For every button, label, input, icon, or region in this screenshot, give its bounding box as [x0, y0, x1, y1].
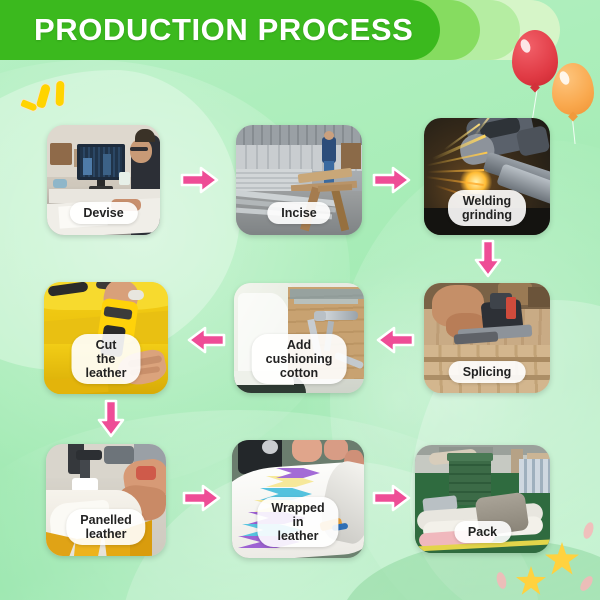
page-title: PRODUCTION PROCESS — [34, 11, 413, 49]
step-card-welding-grinding[interactable]: Welding grinding — [424, 118, 550, 235]
arrow-splicing-to-cushioning — [375, 325, 415, 355]
arrow-incise-to-welding — [372, 165, 412, 195]
arrow-cut-leather-to-panelled — [96, 399, 126, 439]
step-label-panelled-leather: Panelled leather — [66, 509, 145, 545]
step-label-add-cushioning-cotton: Add cushioning cotton — [252, 334, 347, 384]
step-label-pack: Pack — [454, 521, 511, 543]
step-card-cut-the-leather[interactable]: Cut the leather — [44, 282, 168, 394]
step-label-incise: Incise — [267, 202, 330, 224]
step-card-splicing[interactable]: Splicing — [424, 283, 550, 393]
balloon-orange-icon — [552, 63, 594, 115]
balloon-red-icon — [512, 30, 558, 86]
arrow-cushioning-to-cut-leather — [186, 325, 226, 355]
step-card-incise[interactable]: Incise — [236, 125, 362, 235]
step-label-welding-grinding: Welding grinding — [448, 190, 526, 226]
step-label-wrapped-in-leather: Wrapped in leather — [257, 497, 338, 547]
step-card-devise[interactable]: Devise — [47, 125, 160, 235]
step-label-cut-the-leather: Cut the leather — [72, 334, 141, 384]
arrow-panelled-to-wrapped — [182, 483, 222, 513]
step-label-devise: Devise — [69, 202, 137, 224]
arrow-devise-to-incise — [180, 165, 220, 195]
step-card-panelled-leather[interactable]: Panelled leather — [46, 444, 166, 556]
step-label-splicing: Splicing — [449, 361, 526, 383]
step-card-wrapped-in-leather[interactable]: Wrapped in leather — [232, 440, 364, 558]
burst-icon — [55, 80, 66, 107]
step-card-add-cushioning-cotton[interactable]: Add cushioning cotton — [234, 283, 364, 393]
arrow-wrapped-to-pack — [372, 483, 412, 513]
production-process-poster: PRODUCTION PROCESS — [0, 0, 600, 600]
step-card-pack[interactable]: Pack — [415, 445, 550, 553]
balloon-highlight — [519, 38, 533, 54]
arrow-welding-to-splicing — [473, 239, 503, 279]
balloon-highlight — [558, 70, 572, 86]
